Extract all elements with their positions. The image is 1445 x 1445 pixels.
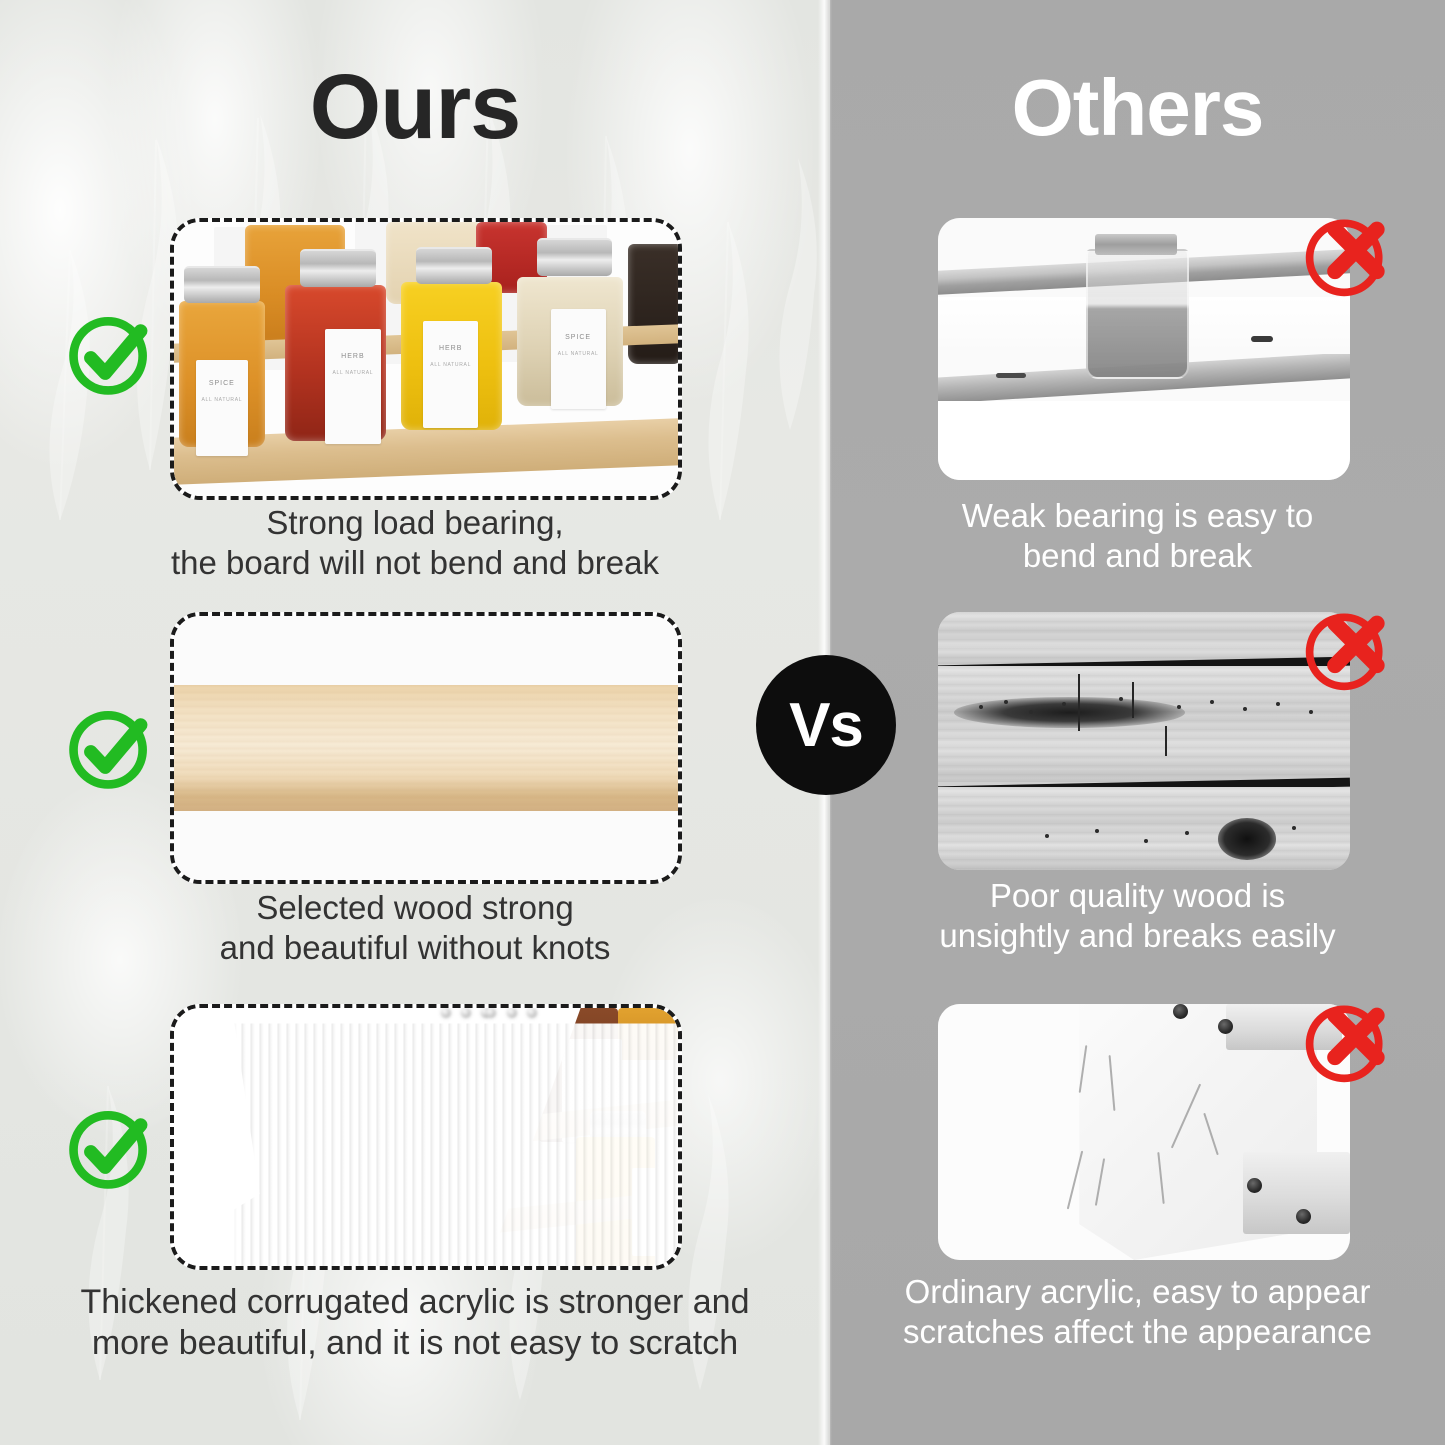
green-check-icon — [62, 700, 158, 796]
red-cross-icon — [1300, 992, 1396, 1088]
green-check-icon — [62, 1100, 158, 1196]
caption-line-2: bend and break — [830, 536, 1445, 576]
others-image-wood-quality — [938, 612, 1350, 870]
others-caption-wood-quality: Poor quality wood is unsightly and break… — [830, 876, 1445, 957]
caption-line-2: scratches affect the appearance — [830, 1312, 1445, 1352]
caption-line-1: Ordinary acrylic, easy to appear — [830, 1272, 1445, 1312]
ours-caption-acrylic-quality: Thickened corrugated acrylic is stronger… — [0, 1282, 830, 1365]
red-cross-icon — [1300, 600, 1396, 696]
caption-line-1: Thickened corrugated acrylic is stronger… — [0, 1282, 830, 1323]
vs-badge: Vs — [756, 655, 896, 795]
caption-line-1: Strong load bearing, — [0, 503, 830, 543]
caption-line-1: Poor quality wood is — [830, 876, 1445, 916]
caption-line-1: Selected wood strong — [0, 888, 830, 928]
caption-line-2: unsightly and breaks easily — [830, 916, 1445, 956]
ours-image-load-bearing: SPICEALL NATURAL HERBALL NATURAL HERBALL… — [170, 218, 682, 500]
green-check-icon — [62, 306, 158, 402]
others-heading: Others — [830, 62, 1445, 154]
ours-image-acrylic-quality — [170, 1004, 682, 1270]
others-image-acrylic-quality — [938, 1004, 1350, 1260]
caption-line-2: more beautiful, and it is not easy to sc… — [0, 1323, 830, 1364]
ours-heading: Ours — [0, 55, 830, 160]
caption-line-2: and beautiful without knots — [0, 928, 830, 968]
comparison-infographic: Ours Others SPICEALL NATURAL HERBALL NAT… — [0, 0, 1445, 1445]
others-caption-load-bearing: Weak bearing is easy to bend and break — [830, 496, 1445, 577]
caption-line-2: the board will not bend and break — [0, 543, 830, 583]
red-cross-icon — [1300, 206, 1396, 302]
caption-line-1: Weak bearing is easy to — [830, 496, 1445, 536]
ours-caption-wood-quality: Selected wood strong and beautiful witho… — [0, 888, 830, 969]
ours-caption-load-bearing: Strong load bearing, the board will not … — [0, 503, 830, 584]
others-image-load-bearing — [938, 218, 1350, 480]
ours-image-wood-quality — [170, 612, 682, 884]
others-caption-acrylic-quality: Ordinary acrylic, easy to appear scratch… — [830, 1272, 1445, 1353]
